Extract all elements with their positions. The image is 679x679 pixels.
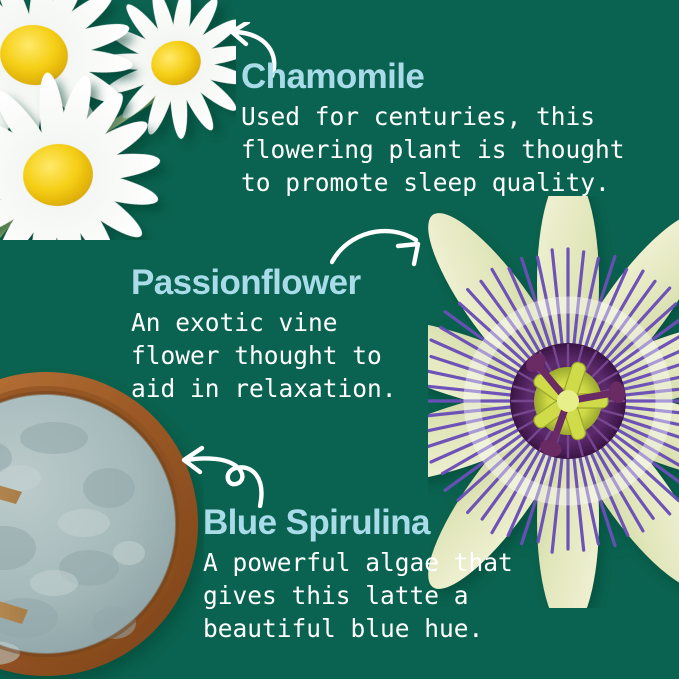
heading-blue-spirulina: Blue Spirulina [203, 504, 513, 542]
ingredient-infographic: Chamomile Used for centuries, this flowe… [0, 0, 679, 679]
ingredient-block-chamomile: Chamomile Used for centuries, this flowe… [241, 58, 625, 199]
heading-passionflower: Passionflower [131, 264, 397, 302]
ingredient-block-passionflower: Passionflower An exotic vine flower thou… [131, 264, 397, 405]
description-passionflower: An exotic vine flower thought to aid in … [131, 306, 397, 405]
curved-arrow-pointing-right-icon [330, 220, 434, 268]
chamomile-daisies-illustration [0, 0, 236, 240]
heading-chamomile: Chamomile [241, 58, 625, 96]
description-blue-spirulina: A powerful algae that gives this latte a… [203, 546, 513, 645]
looped-arrow-pointing-left-icon [174, 442, 274, 508]
blue-spirulina-bowl-illustration [0, 368, 204, 679]
description-chamomile: Used for centuries, this flowering plant… [241, 100, 625, 199]
ingredient-block-blue-spirulina: Blue Spirulina A powerful algae that giv… [203, 504, 513, 645]
